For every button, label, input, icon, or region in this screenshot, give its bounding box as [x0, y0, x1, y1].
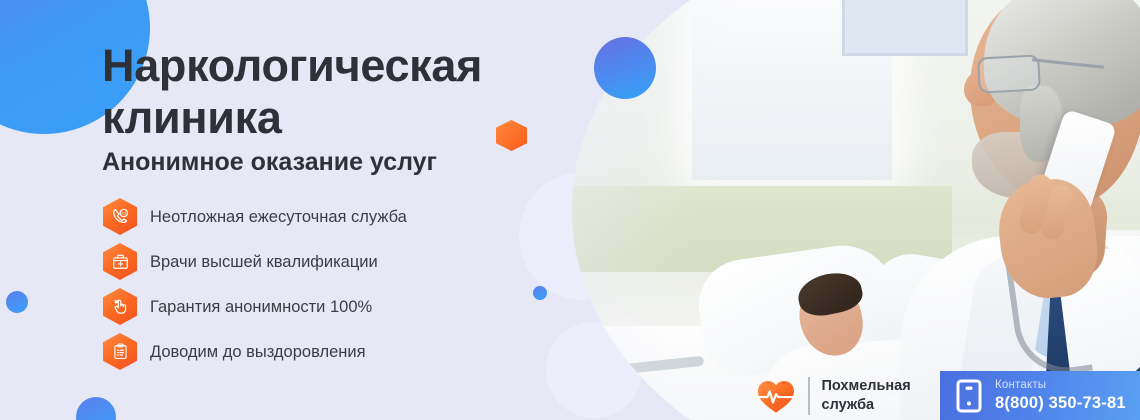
contacts-label: Контакты: [995, 380, 1126, 392]
photo-edge-fade: [572, 0, 1140, 420]
list-item-label: Неотложная ежесуточная служба: [150, 207, 407, 227]
contacts-badge[interactable]: Контакты 8(800) 350-73-81: [940, 371, 1140, 420]
contacts-phone-number: 8(800) 350-73-81: [995, 395, 1126, 412]
page-title: Наркологическая клиника: [102, 40, 572, 144]
clipboard-checklist-icon: [103, 333, 137, 370]
hero-photo: [560, 0, 1140, 420]
banner-content: Наркологическая клиника Анонимное оказан…: [102, 0, 572, 420]
feature-list: 24 Неотложная ежесуточная служба Врачи в…: [103, 194, 523, 374]
clinic-scene: [572, 0, 1140, 420]
brand-name: Похмельная служба: [822, 377, 911, 415]
list-item-label: Гарантия анонимности 100%: [150, 297, 372, 317]
list-item: Гарантия анонимности 100%: [103, 284, 523, 329]
brand-logo[interactable]: Похмельная служба: [756, 374, 911, 418]
page-subtitle: Анонимное оказание услуг: [102, 146, 437, 178]
list-item: Доводим до выздоровления: [103, 329, 523, 374]
svg-text:24: 24: [121, 212, 125, 216]
phone-24h-icon: 24: [103, 198, 137, 235]
promo-banner: Наркологическая клиника Анонимное оказан…: [0, 0, 1140, 420]
hand-gesture-icon: [103, 288, 137, 325]
decorative-dot-left: [6, 291, 28, 313]
list-item-label: Доводим до выздоровления: [150, 342, 366, 362]
heart-pulse-icon: [756, 378, 796, 414]
mobile-phone-icon: [956, 379, 982, 413]
hero-photo-mask: [572, 0, 1140, 420]
list-item-label: Врачи высшей квалификации: [150, 252, 378, 272]
logo-divider: [808, 377, 810, 415]
list-item: 24 Неотложная ежесуточная служба: [103, 194, 523, 239]
medical-kit-icon: [103, 243, 137, 280]
contacts-text: Контакты 8(800) 350-73-81: [995, 380, 1126, 411]
list-item: Врачи высшей квалификации: [103, 239, 523, 284]
